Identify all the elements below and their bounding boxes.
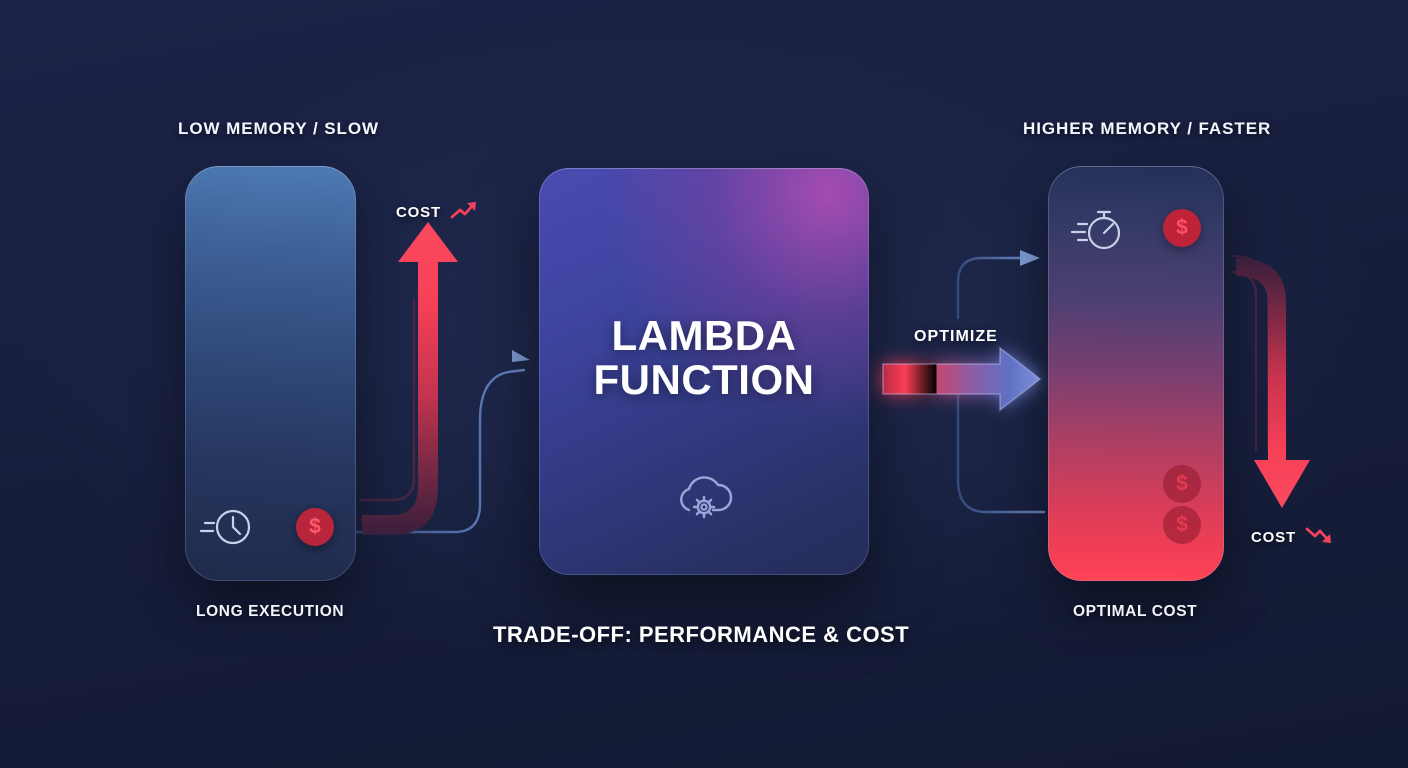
left-column-footer: LONG EXECUTION xyxy=(196,603,344,621)
echo-line-left-b xyxy=(360,300,428,520)
optimize-arrow-outline xyxy=(883,348,1040,410)
diagram-canvas: LOW MEMORY / SLOW HIGHER MEMORY / FASTER… xyxy=(0,0,1408,768)
cost-falling-label: COST xyxy=(1251,524,1336,550)
diagram-title: TRADE-OFF: PERFORMANCE & COST xyxy=(493,622,909,648)
echo-line-right-a xyxy=(1232,272,1256,450)
right-column-footer: OPTIMAL COST xyxy=(1073,603,1197,621)
cost-rising-text: COST xyxy=(396,204,441,221)
dollar-badge: $ xyxy=(1163,209,1201,247)
cost-rising-label: COST xyxy=(396,199,481,225)
connector-center-to-right-upper xyxy=(958,258,1024,318)
optimize-arrow xyxy=(883,348,1040,410)
dollar-badge: $ xyxy=(1163,506,1201,544)
dollar-badge: $ xyxy=(1163,465,1201,503)
dollar-badge: $ xyxy=(296,508,334,546)
connector-left-arrowhead xyxy=(512,350,530,362)
right-column-heading: HIGHER MEMORY / FASTER xyxy=(1023,119,1271,139)
cost-falling-text: COST xyxy=(1251,529,1296,546)
trend-up-icon xyxy=(449,199,481,225)
cloud-gear-icon xyxy=(671,470,737,529)
cost-rising-arrow xyxy=(362,222,458,535)
connector-center-to-right-lower xyxy=(958,392,1044,512)
echo-line-right-b xyxy=(1232,256,1268,450)
connector-upper-arrowhead xyxy=(1020,250,1040,266)
lambda-function-card[interactable]: LAMBDA FUNCTION xyxy=(539,168,869,575)
left-column-heading: LOW MEMORY / SLOW xyxy=(178,119,379,139)
cost-falling-arrow xyxy=(1236,258,1310,508)
echo-line-left-a xyxy=(360,300,414,500)
lambda-card-title: LAMBDA FUNCTION xyxy=(593,314,814,401)
optimize-label: OPTIMIZE xyxy=(914,328,998,346)
fast-stopwatch-icon xyxy=(1064,207,1128,260)
trend-down-icon xyxy=(1304,524,1336,550)
slow-clock-icon xyxy=(199,506,255,553)
connector-left-to-center xyxy=(338,370,524,532)
